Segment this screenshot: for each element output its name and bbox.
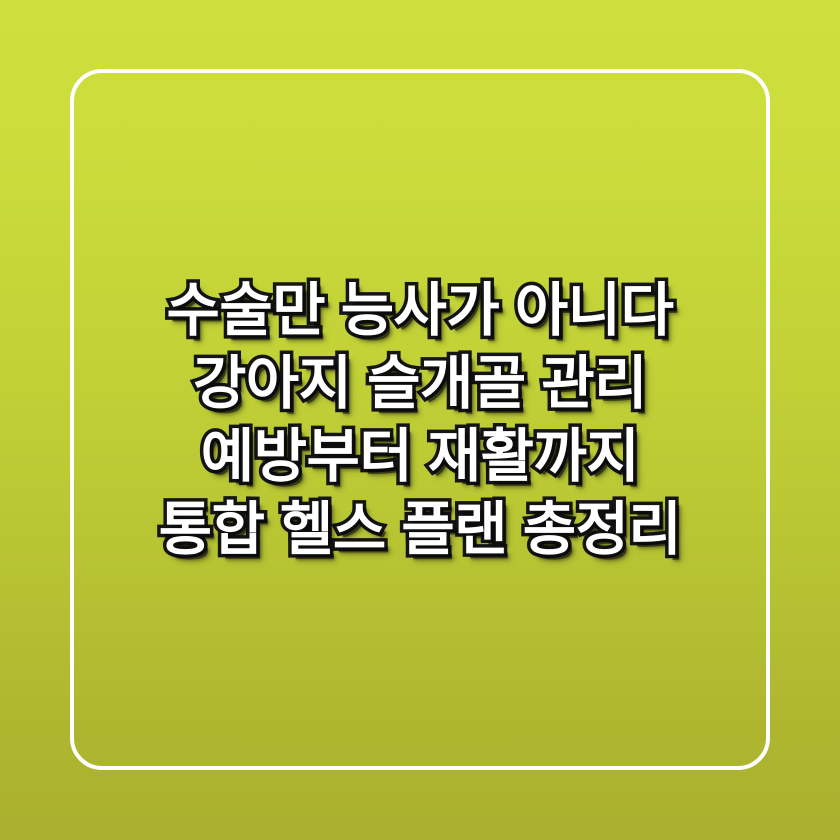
headline-line-2: 강아지 슬개골 관리 [193,347,647,420]
headline-line-1: 수술만 능사가 아니다 [167,274,674,347]
headline-line-4: 통합 헬스 플랜 총정리 [159,493,682,566]
poster-card: 수술만 능사가 아니다 강아지 슬개골 관리 예방부터 재활까지 통합 헬스 플… [0,0,840,840]
headline-block: 수술만 능사가 아니다 강아지 슬개골 관리 예방부터 재활까지 통합 헬스 플… [0,0,840,840]
headline-line-3: 예방부터 재활까지 [201,420,640,493]
